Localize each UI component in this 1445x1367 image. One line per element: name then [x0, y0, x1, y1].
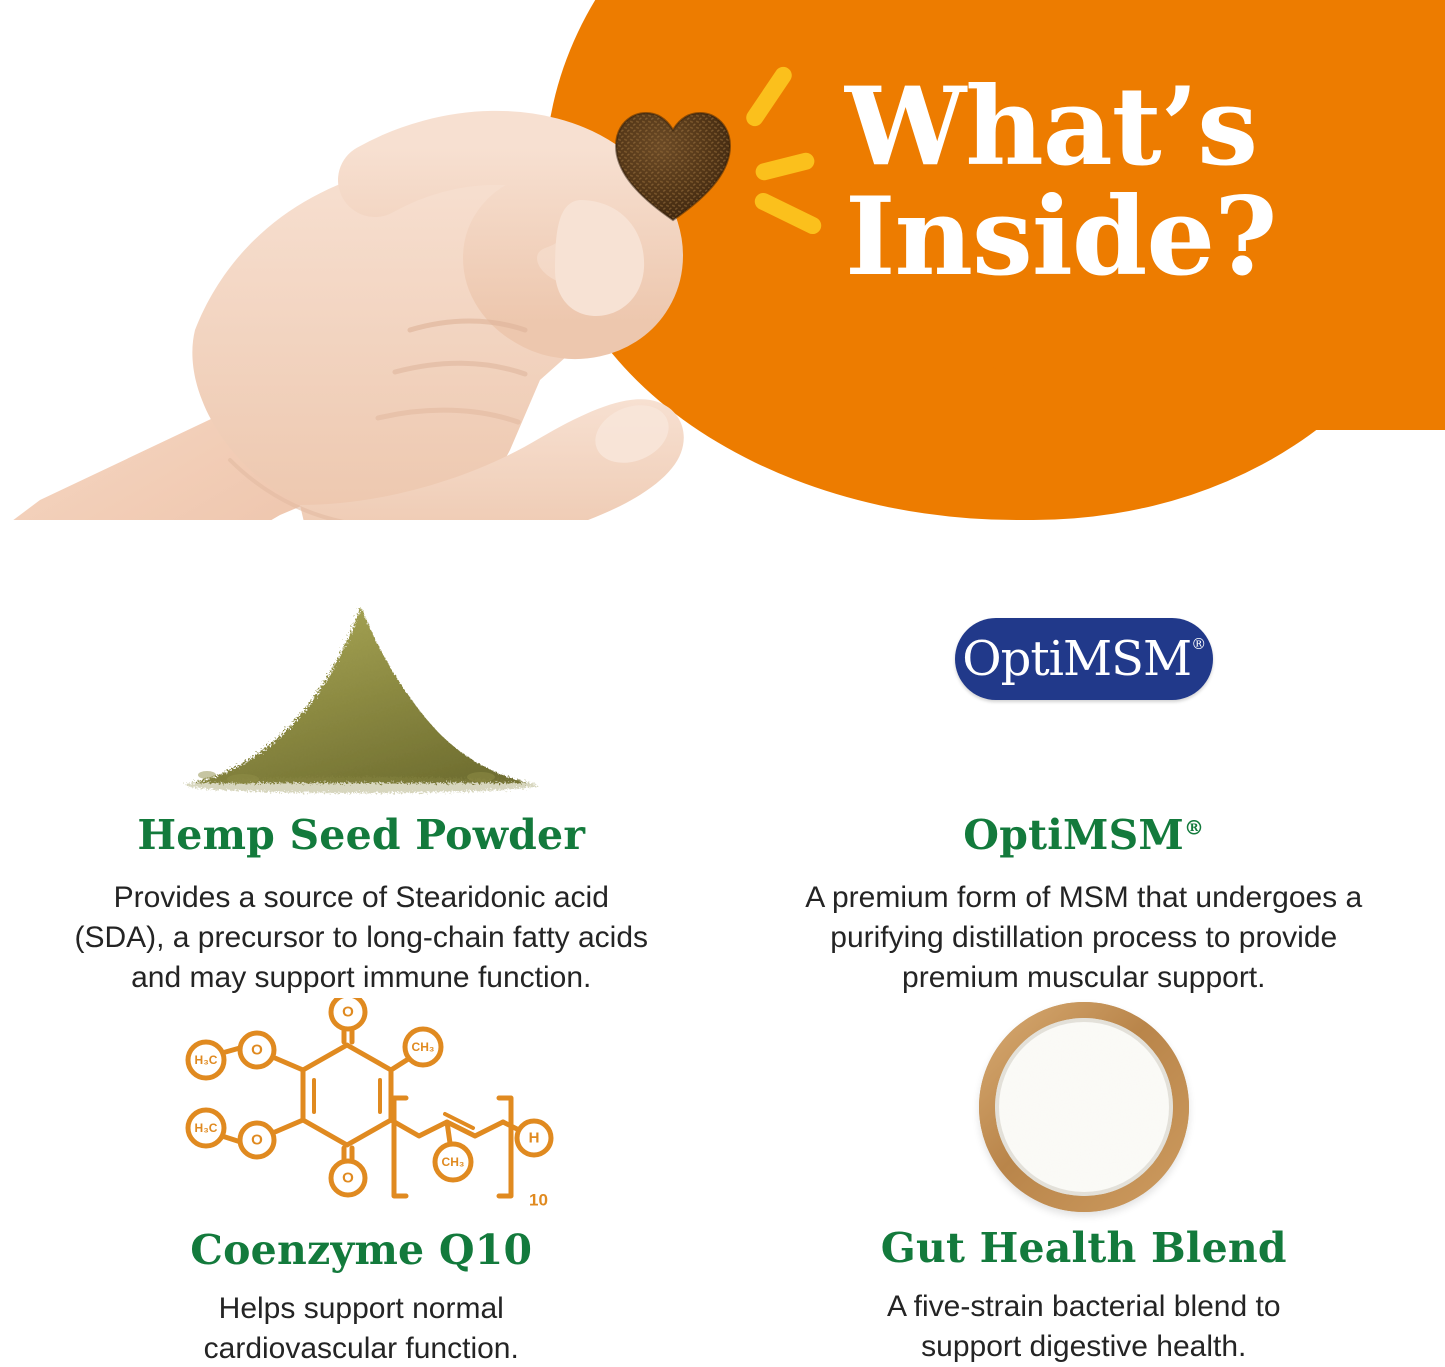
ingredient-card-optimsm: OptiMSM® OptiMSM® A premium form of MSM …: [723, 520, 1445, 998]
page-title-line-1: What’s: [845, 64, 1257, 190]
ingredient-title: Hemp Seed Powder: [137, 815, 585, 856]
ingredient-title: Gut Health Blend: [881, 1228, 1287, 1269]
optimsm-logo-wordmark: OptiMSM: [962, 631, 1191, 687]
registered-mark-icon: ®: [1184, 816, 1204, 840]
molecule-subscript: 10: [529, 1191, 548, 1210]
ingredient-description: Provides a source of Stearidonic acid (S…: [66, 878, 656, 998]
ingredient-grid: Hemp Seed Powder Provides a source of St…: [0, 520, 1445, 1367]
ingredient-description: A premium form of MSM that undergoes a p…: [784, 878, 1384, 998]
wooden-bowl-icon: [979, 1002, 1189, 1212]
ingredient-title: OptiMSM®: [963, 815, 1204, 856]
molecule-label: H₃C: [195, 1121, 218, 1135]
page-title-line-2: Inside?: [845, 182, 1405, 292]
ingredient-description: A five-strain bacterial blend to support…: [834, 1287, 1334, 1367]
molecule-label: O: [342, 1170, 354, 1187]
ingredient-description: Helps support normal cardiovascular func…: [126, 1289, 596, 1367]
ingredient-title: Coenzyme Q10: [190, 1230, 532, 1271]
infographic-page: What’s Inside?: [0, 0, 1445, 1367]
molecule-label: CH₃: [442, 1155, 465, 1169]
hemp-powder-image: [181, 520, 541, 797]
page-title: What’s Inside?: [845, 72, 1405, 292]
optimsm-logo-text: OptiMSM®: [962, 635, 1205, 683]
molecule-label: H₃C: [195, 1053, 218, 1067]
ingredient-card-coenzyme-q10: O O O O H₃C H₃C CH₃ CH₃ H 10 Coenzyme Q1…: [0, 998, 723, 1367]
optimsm-logo-image: OptiMSM®: [955, 520, 1213, 787]
ingredient-title-text: OptiMSM: [963, 811, 1184, 859]
registered-mark-icon: ®: [1191, 637, 1205, 652]
heart-treat-icon: [612, 108, 734, 226]
hand-pinching-icon: [0, 30, 740, 520]
hero-banner: What’s Inside?: [0, 0, 1445, 520]
optimsm-logo-badge: OptiMSM®: [955, 618, 1213, 700]
ingredient-card-gut-health-blend: Gut Health Blend A five-strain bacterial…: [723, 998, 1445, 1367]
coq10-molecule-image: O O O O H₃C H₃C CH₃ CH₃ H 10: [151, 998, 571, 1218]
molecule-label: O: [251, 1132, 263, 1149]
molecule-label: O: [251, 1042, 263, 1059]
molecule-label: CH₃: [412, 1040, 435, 1054]
molecule-label: O: [342, 1004, 354, 1021]
white-powder-bowl-image: [979, 998, 1189, 1216]
ingredient-card-hemp-seed-powder: Hemp Seed Powder Provides a source of St…: [0, 520, 723, 998]
molecule-label: H: [529, 1130, 540, 1147]
molecule-diagram-icon: O O O O H₃C H₃C CH₃ CH₃ H 10: [151, 998, 571, 1218]
